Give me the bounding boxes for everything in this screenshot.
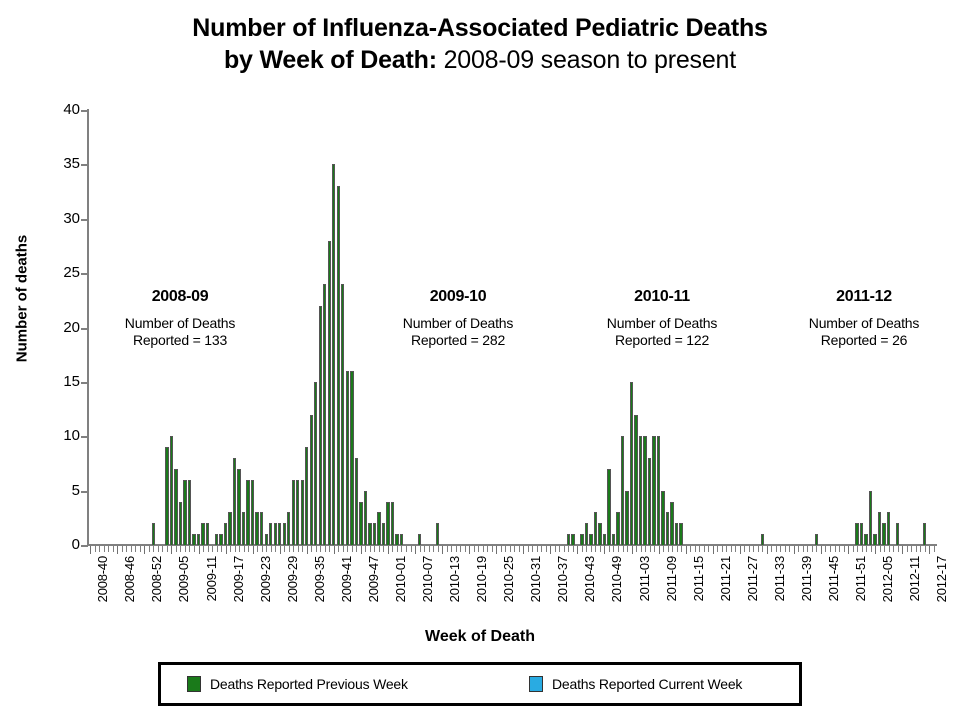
bar — [873, 534, 876, 545]
bar — [761, 534, 764, 545]
bar — [359, 502, 362, 546]
x-tick-mark — [284, 546, 285, 552]
y-tick-mark — [81, 219, 88, 221]
bar — [377, 512, 380, 545]
x-tick-label: 2010-49 — [609, 556, 624, 602]
bar — [652, 436, 655, 545]
x-tick-mark — [438, 546, 439, 552]
season-2009-10: 2009-10Number of DeathsReported = 282 — [358, 288, 558, 349]
x-tick-mark — [925, 546, 926, 552]
bar — [580, 534, 583, 545]
x-tick-mark — [537, 546, 538, 552]
bar — [589, 534, 592, 545]
x-tick-mark — [235, 546, 236, 552]
x-tick-mark — [541, 546, 542, 552]
x-tick-mark — [758, 546, 759, 552]
x-tick-mark — [735, 546, 736, 552]
bar — [255, 512, 258, 545]
x-tick-mark — [429, 546, 430, 552]
x-tick-mark — [920, 546, 921, 552]
x-tick-mark — [510, 546, 511, 552]
y-tick-label: 10 — [40, 427, 80, 444]
x-tick-mark — [424, 546, 425, 552]
x-tick-mark — [844, 546, 845, 552]
x-tick-mark — [780, 546, 781, 552]
bar — [183, 480, 186, 545]
bar — [391, 502, 394, 546]
x-tick-mark — [361, 546, 362, 554]
x-tick-mark — [825, 546, 826, 552]
x-tick-mark — [343, 546, 344, 552]
x-tick-mark — [875, 546, 876, 554]
x-tick-mark — [302, 546, 303, 552]
bar — [301, 480, 304, 545]
bar — [882, 523, 885, 545]
x-tick-mark — [189, 546, 190, 552]
x-tick-label: 2012-11 — [907, 556, 922, 601]
x-tick-mark — [659, 546, 660, 554]
x-tick-mark — [902, 546, 903, 554]
bar — [571, 534, 574, 545]
bar — [274, 523, 277, 545]
x-tick-mark — [257, 546, 258, 552]
chart-title-line1: Number of Influenza-Associated Pediatric… — [0, 12, 960, 44]
bar — [594, 512, 597, 545]
x-tick-mark — [839, 546, 840, 552]
season-count-line2: Reported = 133 — [80, 332, 280, 349]
x-tick-label: 2011-39 — [799, 556, 814, 601]
x-tick-label: 2012-05 — [880, 556, 895, 602]
y-tick-label: 20 — [40, 319, 80, 336]
x-tick-mark — [889, 546, 890, 552]
bar — [616, 512, 619, 545]
x-tick-mark — [789, 546, 790, 552]
season-count-line2: Reported = 122 — [562, 332, 762, 349]
x-tick-label: 2010-37 — [555, 556, 570, 602]
bar — [170, 436, 173, 545]
bar — [864, 534, 867, 545]
x-axis-tick-marks — [88, 546, 936, 554]
season-label: 2009-10 — [358, 288, 558, 306]
x-tick-mark — [298, 546, 299, 552]
x-tick-mark — [266, 546, 267, 552]
x-tick-label: 2009-11 — [204, 556, 219, 601]
x-tick-mark — [699, 546, 700, 552]
x-tick-mark — [420, 546, 421, 552]
x-tick-mark — [135, 546, 136, 552]
y-tick-mark — [81, 545, 88, 547]
bar — [310, 415, 313, 546]
bar — [657, 436, 660, 545]
x-tick-mark — [577, 546, 578, 554]
x-tick-label: 2011-09 — [664, 556, 679, 601]
x-tick-mark — [401, 546, 402, 552]
x-tick-mark — [167, 546, 168, 552]
x-tick-mark — [275, 546, 276, 552]
x-tick-mark — [374, 546, 375, 552]
x-tick-mark — [411, 546, 412, 552]
x-tick-mark — [767, 546, 768, 554]
x-tick-label: 2010-25 — [501, 556, 516, 602]
bar — [373, 523, 376, 545]
bar — [625, 491, 628, 545]
season-count-line1: Number of Deaths — [80, 315, 280, 332]
x-tick-mark — [654, 546, 655, 552]
bar — [337, 186, 340, 545]
legend-swatch-icon — [187, 676, 201, 692]
x-tick-mark — [812, 546, 813, 552]
bar — [395, 534, 398, 545]
x-tick-mark — [90, 546, 91, 554]
season-2008-09: 2008-09Number of DeathsReported = 133 — [80, 288, 280, 349]
bar — [224, 523, 227, 545]
bar — [585, 523, 588, 545]
x-tick-mark — [140, 546, 141, 552]
bar — [639, 436, 642, 545]
y-tick-mark — [81, 328, 88, 330]
x-tick-mark — [532, 546, 533, 552]
x-tick-mark — [807, 546, 808, 552]
bar — [603, 534, 606, 545]
x-tick-mark — [311, 546, 312, 552]
bar — [237, 469, 240, 545]
x-tick-mark — [866, 546, 867, 552]
bar — [567, 534, 570, 545]
x-tick-mark — [753, 546, 754, 552]
x-tick-mark — [681, 546, 682, 552]
x-tick-label: 2010-31 — [528, 556, 543, 602]
legend-swatch-icon — [529, 676, 543, 692]
x-tick-label: 2012-17 — [934, 556, 949, 602]
x-tick-mark — [618, 546, 619, 552]
bar — [319, 306, 322, 545]
x-tick-mark — [830, 546, 831, 552]
x-tick-label: 2011-45 — [826, 556, 841, 601]
bar — [341, 284, 344, 545]
y-tick-label: 5 — [40, 482, 80, 499]
bar — [179, 502, 182, 546]
bar — [418, 534, 421, 545]
x-tick-mark — [600, 546, 601, 552]
x-tick-mark — [762, 546, 763, 552]
x-tick-mark — [609, 546, 610, 552]
x-tick-mark — [907, 546, 908, 552]
bar — [634, 415, 637, 546]
bar — [292, 480, 295, 545]
bar — [382, 523, 385, 545]
bar — [607, 469, 610, 545]
season-label: 2011-12 — [764, 288, 960, 306]
x-tick-mark — [722, 546, 723, 552]
x-tick-mark — [451, 546, 452, 552]
bar — [855, 523, 858, 545]
bar — [400, 534, 403, 545]
x-tick-mark — [695, 546, 696, 552]
y-axis-title: Number of deaths — [14, 199, 31, 399]
x-tick-label: 2011-51 — [853, 556, 868, 601]
y-tick-label: 15 — [40, 373, 80, 390]
x-tick-mark — [320, 546, 321, 552]
x-tick-mark — [212, 546, 213, 552]
x-tick-mark — [280, 546, 281, 554]
x-tick-mark — [816, 546, 817, 552]
x-tick-label: 2011-21 — [718, 556, 733, 601]
x-tick-mark — [686, 546, 687, 554]
x-tick-mark — [835, 546, 836, 552]
y-axis-tick-labels: 0510152025303540 — [28, 110, 80, 545]
x-tick-mark — [352, 546, 353, 552]
bar — [174, 469, 177, 545]
x-tick-mark — [226, 546, 227, 554]
bar — [265, 534, 268, 545]
x-tick-mark — [447, 546, 448, 552]
x-tick-mark — [776, 546, 777, 552]
x-tick-mark — [550, 546, 551, 554]
x-tick-mark — [262, 546, 263, 552]
bar — [923, 523, 926, 545]
x-tick-mark — [253, 546, 254, 554]
bar — [296, 480, 299, 545]
season-count-line1: Number of Deaths — [764, 315, 960, 332]
x-tick-mark — [650, 546, 651, 552]
x-tick-mark — [668, 546, 669, 552]
x-tick-mark — [293, 546, 294, 552]
x-tick-label: 2009-41 — [339, 556, 354, 602]
x-tick-mark — [162, 546, 163, 552]
x-tick-mark — [528, 546, 529, 552]
x-tick-mark — [289, 546, 290, 552]
x-tick-mark — [492, 546, 493, 552]
chart-title-line2-rest: 2008-09 season to present — [437, 46, 736, 74]
chart-legend: Deaths Reported Previous WeekDeaths Repo… — [158, 662, 802, 706]
x-tick-mark — [744, 546, 745, 552]
legend-label: Deaths Reported Previous Week — [210, 676, 408, 692]
bar — [643, 436, 646, 545]
x-tick-mark — [338, 546, 339, 552]
bar — [630, 382, 633, 545]
y-tick-mark — [81, 382, 88, 384]
x-tick-mark — [704, 546, 705, 552]
bar — [648, 458, 651, 545]
bar — [206, 523, 209, 545]
x-tick-mark — [433, 546, 434, 552]
x-tick-mark — [803, 546, 804, 552]
x-tick-label: 2010-13 — [447, 556, 462, 602]
x-tick-mark — [627, 546, 628, 552]
x-tick-mark — [559, 546, 560, 552]
y-tick-label: 35 — [40, 155, 80, 172]
x-tick-mark — [884, 546, 885, 552]
x-tick-mark — [564, 546, 565, 552]
season-label: 2008-09 — [80, 288, 280, 306]
bar — [287, 512, 290, 545]
x-tick-mark — [460, 546, 461, 552]
x-tick-mark — [185, 546, 186, 552]
x-tick-label: 2011-27 — [745, 556, 760, 601]
x-tick-mark — [113, 546, 114, 552]
x-tick-mark — [230, 546, 231, 552]
bar — [269, 523, 272, 545]
bar — [666, 512, 669, 545]
y-tick-mark — [81, 436, 88, 438]
x-tick-mark — [785, 546, 786, 552]
bar — [323, 284, 326, 545]
y-tick-label: 25 — [40, 264, 80, 281]
bar — [251, 480, 254, 545]
x-tick-mark — [911, 546, 912, 552]
x-tick-mark — [379, 546, 380, 552]
x-tick-mark — [487, 546, 488, 552]
x-tick-mark — [347, 546, 348, 552]
x-tick-mark — [334, 546, 335, 554]
x-tick-mark — [794, 546, 795, 554]
x-axis-title: Week of Death — [0, 628, 960, 646]
chart-title: Number of Influenza-Associated Pediatric… — [0, 12, 960, 76]
x-tick-mark — [388, 546, 389, 554]
x-tick-mark — [329, 546, 330, 552]
season-count-line2: Reported = 26 — [764, 332, 960, 349]
bar — [197, 534, 200, 545]
bar — [201, 523, 204, 545]
bar — [386, 502, 389, 546]
x-tick-mark — [108, 546, 109, 552]
bar — [332, 164, 335, 545]
y-tick-mark — [81, 164, 88, 166]
x-tick-mark — [645, 546, 646, 552]
bar — [612, 534, 615, 545]
x-tick-mark — [221, 546, 222, 552]
x-tick-mark — [365, 546, 366, 552]
x-tick-mark — [731, 546, 732, 552]
bar — [260, 512, 263, 545]
x-tick-label: 2011-33 — [772, 556, 787, 601]
x-tick-mark — [383, 546, 384, 552]
x-tick-mark — [690, 546, 691, 552]
y-tick-mark — [81, 273, 88, 275]
season-2011-12: 2011-12Number of DeathsReported = 26 — [764, 288, 960, 349]
x-tick-mark — [194, 546, 195, 552]
x-tick-mark — [478, 546, 479, 552]
x-tick-mark — [573, 546, 574, 552]
bar — [675, 523, 678, 545]
bar — [219, 534, 222, 545]
x-tick-label: 2008-52 — [149, 556, 164, 602]
x-tick-mark — [713, 546, 714, 554]
x-tick-mark — [623, 546, 624, 552]
season-count-line1: Number of Deaths — [562, 315, 762, 332]
bar — [364, 491, 367, 545]
y-tick-mark — [81, 491, 88, 493]
x-tick-mark — [862, 546, 863, 552]
x-tick-mark — [591, 546, 592, 552]
x-tick-mark — [821, 546, 822, 554]
x-tick-label: 2010-01 — [393, 556, 408, 602]
x-tick-mark — [392, 546, 393, 552]
bar — [346, 371, 349, 545]
bar — [815, 534, 818, 545]
x-tick-mark — [217, 546, 218, 552]
x-tick-mark — [153, 546, 154, 552]
x-tick-mark — [307, 546, 308, 554]
x-tick-mark — [199, 546, 200, 554]
bar — [661, 491, 664, 545]
x-tick-mark — [469, 546, 470, 554]
x-axis-tick-labels: 2008-402008-462008-522009-052009-112009-… — [88, 556, 936, 622]
x-tick-mark — [749, 546, 750, 552]
x-tick-mark — [582, 546, 583, 552]
x-tick-mark — [325, 546, 326, 552]
x-tick-mark — [208, 546, 209, 552]
x-tick-mark — [523, 546, 524, 554]
x-tick-mark — [144, 546, 145, 554]
x-tick-mark — [104, 546, 105, 552]
x-tick-mark — [126, 546, 127, 552]
chart-title-line2: by Week of Death: 2008-09 season to pres… — [0, 44, 960, 76]
bar — [215, 534, 218, 545]
x-tick-mark — [171, 546, 172, 554]
x-tick-mark — [465, 546, 466, 552]
x-tick-mark — [586, 546, 587, 552]
x-tick-mark — [483, 546, 484, 552]
season-count-line1: Number of Deaths — [358, 315, 558, 332]
bar — [670, 502, 673, 546]
x-tick-mark — [677, 546, 678, 552]
x-tick-mark — [555, 546, 556, 552]
x-tick-label: 2009-29 — [285, 556, 300, 602]
x-tick-mark — [442, 546, 443, 554]
y-tick-mark — [81, 110, 88, 112]
x-tick-mark — [880, 546, 881, 552]
x-tick-mark — [871, 546, 872, 552]
bar — [233, 458, 236, 545]
x-tick-label: 2009-23 — [258, 556, 273, 602]
y-tick-label: 30 — [40, 210, 80, 227]
x-tick-mark — [239, 546, 240, 552]
bar — [368, 523, 371, 545]
x-tick-mark — [798, 546, 799, 552]
x-tick-mark — [131, 546, 132, 552]
bar — [860, 523, 863, 545]
bar — [283, 523, 286, 545]
x-tick-label: 2009-47 — [366, 556, 381, 602]
x-tick-label: 2011-03 — [637, 556, 652, 601]
bar — [165, 447, 168, 545]
bar — [896, 523, 899, 545]
season-2010-11: 2010-11Number of DeathsReported = 122 — [562, 288, 762, 349]
x-tick-mark — [893, 546, 894, 552]
bar — [246, 480, 249, 545]
legend-label: Deaths Reported Current Week — [552, 676, 742, 692]
bar — [887, 512, 890, 545]
x-tick-mark — [595, 546, 596, 552]
x-tick-mark — [929, 546, 930, 554]
bar — [152, 523, 155, 545]
x-tick-mark — [501, 546, 502, 552]
x-tick-mark — [397, 546, 398, 552]
x-tick-mark — [632, 546, 633, 554]
x-tick-mark — [519, 546, 520, 552]
x-tick-mark — [370, 546, 371, 552]
y-tick-label: 40 — [40, 101, 80, 118]
bar — [192, 534, 195, 545]
bar — [188, 480, 191, 545]
x-tick-mark — [176, 546, 177, 552]
bar — [598, 523, 601, 545]
bar — [878, 512, 881, 545]
x-tick-mark — [708, 546, 709, 552]
x-tick-label: 2009-35 — [312, 556, 327, 602]
x-tick-mark — [122, 546, 123, 552]
